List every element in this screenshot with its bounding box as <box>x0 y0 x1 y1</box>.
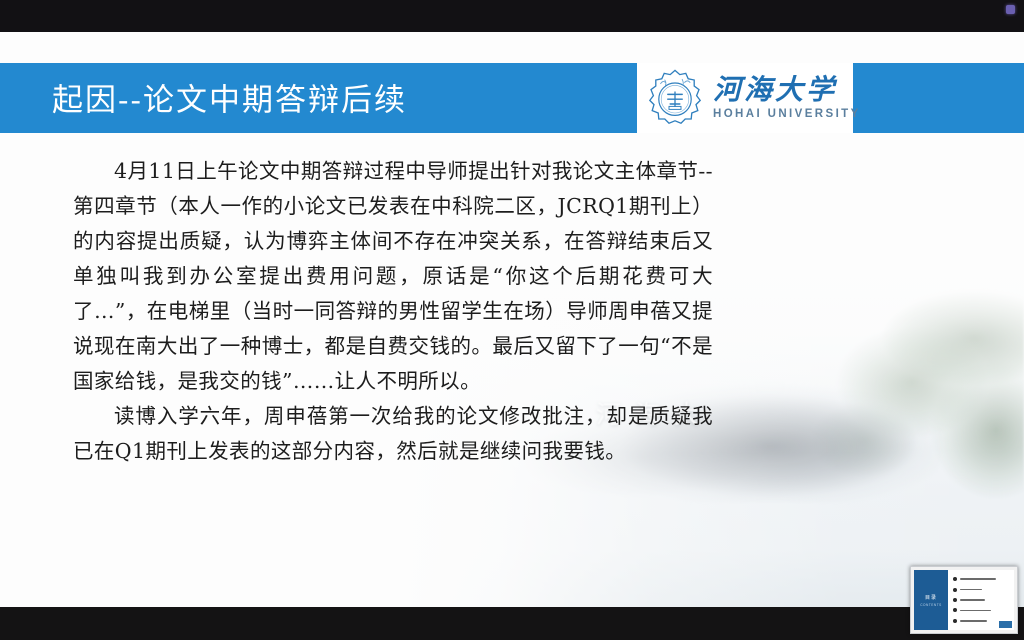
thumbnail-list-item <box>953 577 1010 581</box>
body-paragraph: 4月11日上午论文中期答辩过程中导师提出针对我论文主体章节--第四章节（本人一作… <box>73 154 713 399</box>
bullet-icon <box>953 598 957 602</box>
bullet-icon <box>953 577 957 581</box>
thumbnail-text-rule <box>960 589 983 591</box>
bullet-icon <box>953 619 957 623</box>
thumbnail-slide: 目录 CONTENTS <box>914 570 1014 630</box>
slide-canvas: 河海大 起因--论文中期答辩后续 河海大学 <box>0 32 1024 607</box>
thumbnail-text-rule <box>960 578 996 580</box>
university-logo: 河海大学 HOHAI UNIVERSITY <box>637 63 853 133</box>
university-name-en: HOHAI UNIVERSITY <box>713 109 861 121</box>
slide-thumbnail-preview[interactable]: 目录 CONTENTS <box>910 566 1018 634</box>
hohai-seal-icon <box>645 68 705 128</box>
body-paragraph: 读博入学六年，周申蓓第一次给我的论文修改批注，却是质疑我已在Q1期刊上发表的这部… <box>73 399 713 469</box>
thumbnail-text-rule <box>960 610 992 612</box>
bullet-icon <box>953 588 957 592</box>
university-name-cn: 河海大学 <box>713 76 861 104</box>
thumbnail-contents-title-cn: 目录 <box>925 594 937 601</box>
slide-body: 4月11日上午论文中期答辩过程中导师提出针对我论文主体章节--第四章节（本人一作… <box>73 154 713 469</box>
thumbnail-list-item <box>953 608 1010 612</box>
thumbnail-list-item <box>953 588 1010 592</box>
thumbnail-contents-title-en: CONTENTS <box>920 603 942 607</box>
top-letterbox-bar <box>0 0 1024 32</box>
thumbnail-text-rule <box>960 599 985 601</box>
title-banner: 起因--论文中期答辩后续 河海大学 HOHAI UNIVERSITY <box>0 63 1024 133</box>
bottom-letterbox-bar <box>0 607 1024 640</box>
bullet-icon <box>953 608 957 612</box>
thumbnail-corner-badge <box>998 620 1013 629</box>
thumbnail-contents-panel: 目录 CONTENTS <box>914 570 948 630</box>
status-indicator-icon <box>1006 5 1015 14</box>
thumbnail-list-item <box>953 598 1010 602</box>
thumbnail-text-rule <box>960 620 987 622</box>
slide-title: 起因--论文中期答辩后续 <box>52 75 407 120</box>
university-logo-text: 河海大学 HOHAI UNIVERSITY <box>713 76 861 121</box>
screen: 河海大 起因--论文中期答辩后续 河海大学 <box>0 0 1024 640</box>
